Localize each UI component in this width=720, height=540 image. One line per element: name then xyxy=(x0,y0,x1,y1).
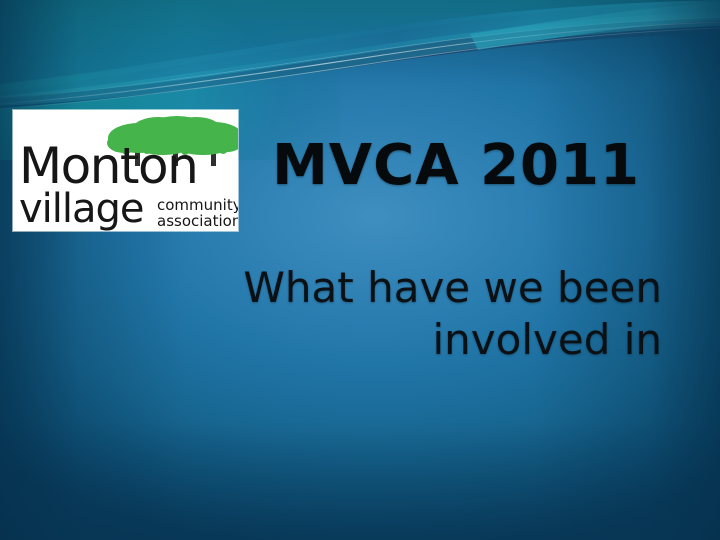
subtitle-line-1: What have we been xyxy=(140,262,662,314)
logo-word-association: association xyxy=(157,212,238,230)
subtitle-line-2: involved in xyxy=(140,314,662,366)
three-trees-icon: Monton village community association xyxy=(13,110,238,231)
logo-word-village: village xyxy=(19,186,144,231)
page-title: MVCA 2011 xyxy=(250,137,662,196)
presentation-slide: Monton village community association MVC… xyxy=(0,0,720,540)
mvca-logo: Monton village community association xyxy=(13,110,238,231)
page-subtitle: What have we been involved in xyxy=(140,262,662,365)
